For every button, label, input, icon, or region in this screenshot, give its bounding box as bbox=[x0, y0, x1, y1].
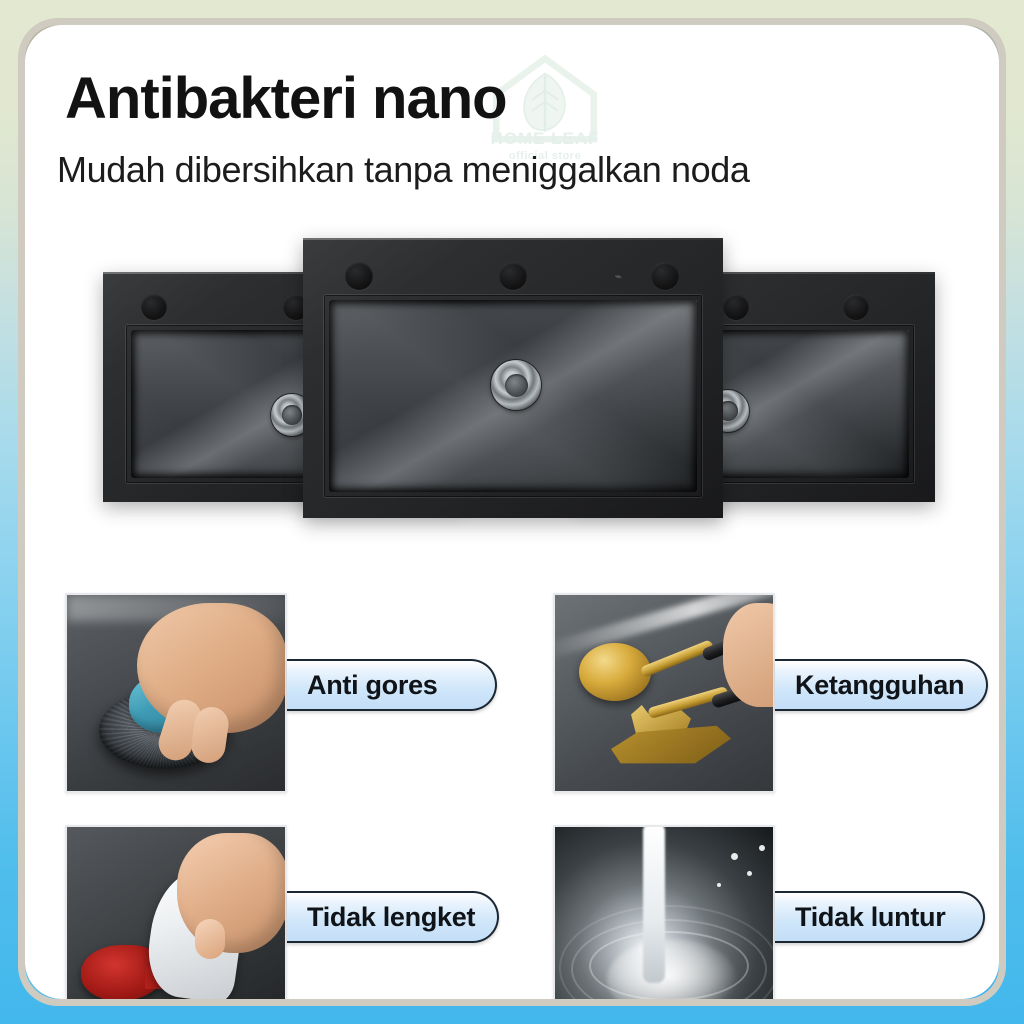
gold-knife-icon bbox=[611, 725, 731, 765]
sink-center-deck-highlight bbox=[303, 238, 723, 240]
scene-gold-cutlery bbox=[555, 595, 773, 791]
faucet-hole-icon bbox=[843, 294, 869, 320]
water-droplet-icon bbox=[747, 871, 752, 876]
feature-label-tidak-luntur[interactable]: Tidak luntur bbox=[775, 891, 985, 943]
hand-icon bbox=[177, 833, 287, 953]
feature-tidak-lengket-photo bbox=[65, 825, 287, 1006]
sink-brand-etch: ⌁ bbox=[615, 270, 623, 283]
feature-tidak-luntur-photo bbox=[553, 825, 775, 1006]
sink-center-drain bbox=[491, 360, 541, 410]
cutlery-shaft-icon bbox=[640, 639, 715, 678]
feature-label-anti-gores[interactable]: Anti gores bbox=[287, 659, 497, 711]
water-stream-icon bbox=[643, 825, 665, 983]
feature-label-text: Tidak lengket bbox=[307, 902, 475, 933]
hero-product-row: ⌁ bbox=[25, 220, 1006, 550]
page-subtitle: Mudah dibersihkan tanpa meniggalkan noda bbox=[57, 149, 750, 191]
water-droplet-icon bbox=[759, 845, 765, 851]
scene-water-splash bbox=[555, 827, 773, 1006]
water-droplet-icon bbox=[731, 853, 738, 860]
watermark-brand: HOME LEAF bbox=[480, 129, 610, 149]
faucet-hole-icon bbox=[723, 294, 749, 320]
gold-spoon-icon bbox=[579, 643, 651, 701]
feature-ketangguhan: Ketangguhan bbox=[553, 593, 1006, 793]
feature-label-text: Anti gores bbox=[307, 670, 438, 701]
feature-label-tidak-lengket[interactable]: Tidak lengket bbox=[287, 891, 499, 943]
scene-hand-scrubbing bbox=[67, 595, 285, 791]
feature-tidak-lengket: Tidak lengket bbox=[65, 825, 525, 1006]
feature-label-text: Ketangguhan bbox=[795, 670, 964, 701]
feature-ketangguhan-photo bbox=[553, 593, 775, 793]
feature-grid: Anti gores Ketangguhan bbox=[25, 570, 1006, 1000]
product-info-card: HOME LEAF official store Antibakteri nan… bbox=[18, 18, 1006, 1006]
feature-tidak-luntur: Tidak luntur bbox=[553, 825, 1006, 1006]
thumb-icon bbox=[195, 919, 225, 959]
feature-label-ketangguhan[interactable]: Ketangguhan bbox=[775, 659, 988, 711]
water-droplet-icon bbox=[717, 883, 721, 887]
sink-center: ⌁ bbox=[303, 238, 723, 518]
faucet-hole-icon bbox=[141, 294, 167, 320]
faucet-hole-icon bbox=[651, 262, 679, 290]
scene-wiping-ketchup bbox=[67, 827, 285, 1006]
feature-label-text: Tidak luntur bbox=[795, 902, 945, 933]
faucet-hole-icon bbox=[499, 262, 527, 290]
feature-anti-gores-photo bbox=[65, 593, 287, 793]
feature-anti-gores: Anti gores bbox=[65, 593, 525, 793]
faucet-hole-icon bbox=[345, 262, 373, 290]
page-title: Antibakteri nano bbox=[65, 65, 507, 132]
